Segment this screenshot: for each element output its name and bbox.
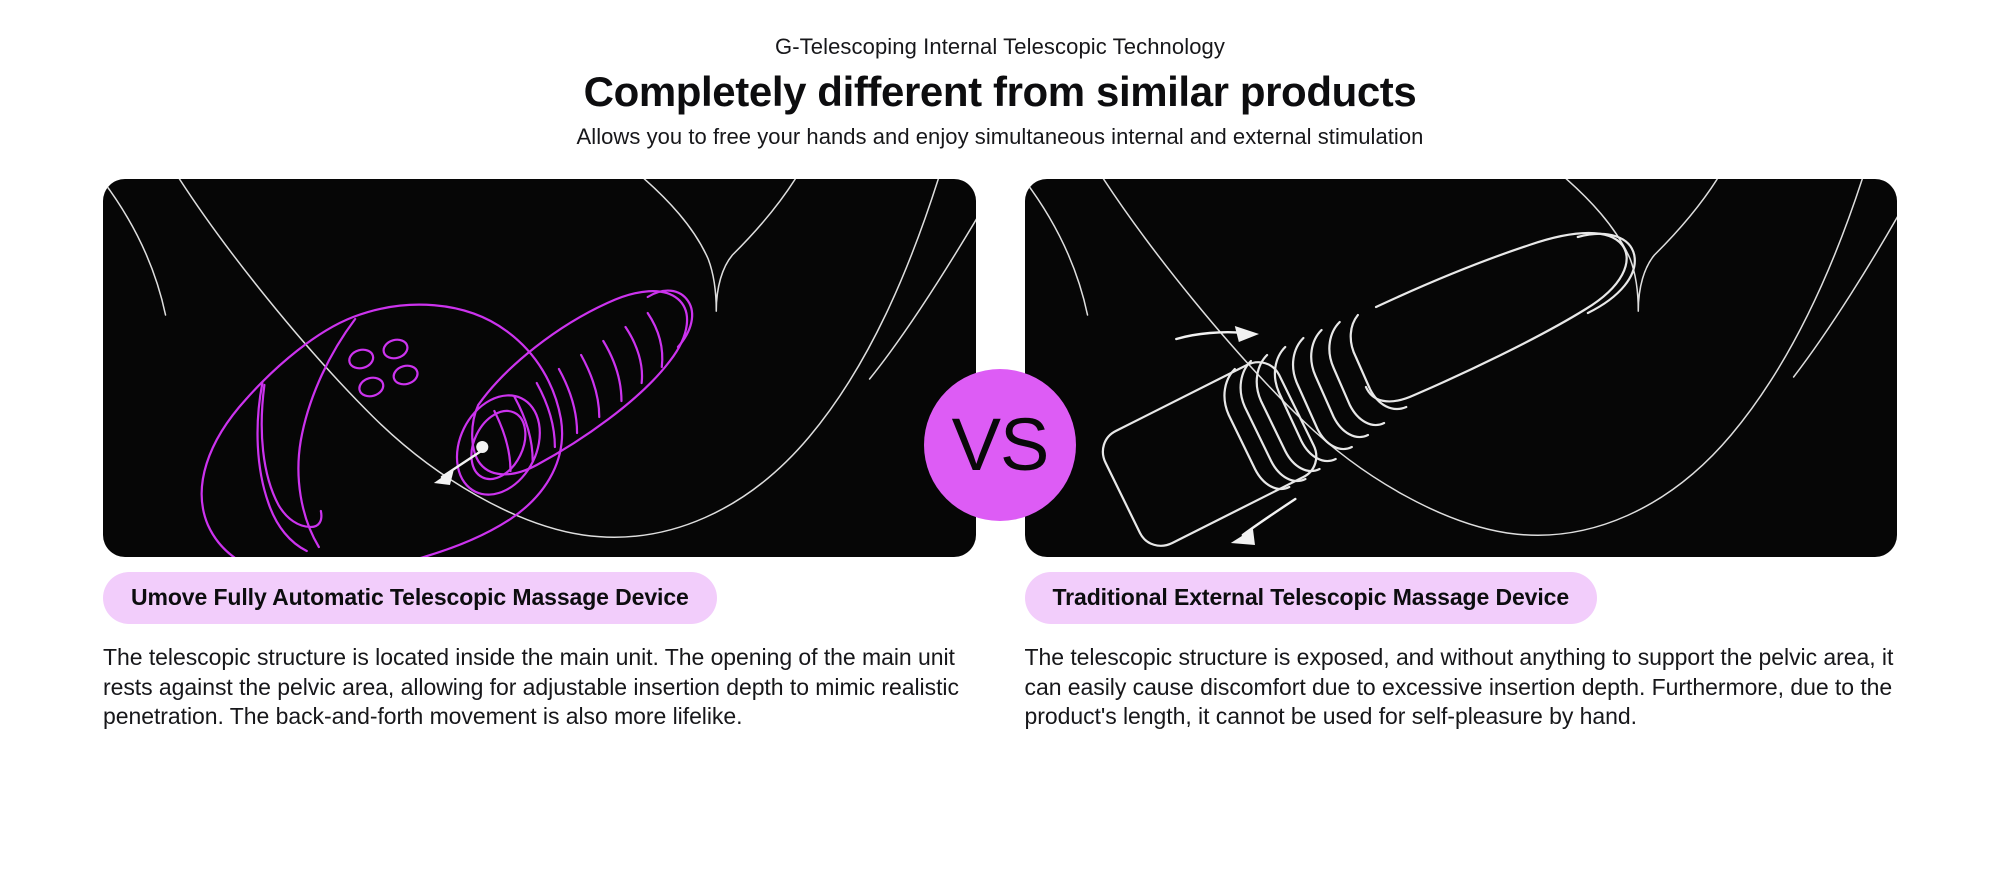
- vs-badge: VS: [924, 369, 1076, 521]
- illustration-panel-right: [1025, 179, 1898, 557]
- pill-label-left: Umove Fully Automatic Telescopic Massage…: [103, 572, 717, 624]
- comparison-row: Umove Fully Automatic Telescopic Massage…: [0, 179, 2000, 732]
- internal-telescopic-device-line-art: [103, 179, 976, 557]
- vs-badge-label: VS: [952, 408, 1049, 482]
- illustration-panel-left: [103, 179, 976, 557]
- comparison-infographic: G-Telescoping Internal Telescopic Techno…: [0, 0, 2000, 879]
- subtitle-text: Allows you to free your hands and enjoy …: [0, 122, 2000, 152]
- comparison-column-right: Traditional External Telescopic Massage …: [1025, 179, 1898, 732]
- description-left: The telescopic structure is located insi…: [103, 643, 976, 732]
- comparison-column-left: Umove Fully Automatic Telescopic Massage…: [103, 179, 976, 732]
- page-title: Completely different from similar produc…: [0, 66, 2000, 118]
- pill-label-right: Traditional External Telescopic Massage …: [1025, 572, 1598, 624]
- description-right: The telescopic structure is exposed, and…: [1025, 643, 1898, 732]
- header: G-Telescoping Internal Telescopic Techno…: [0, 0, 2000, 152]
- eyebrow-text: G-Telescoping Internal Telescopic Techno…: [0, 32, 2000, 62]
- external-telescopic-device-line-art: [1025, 179, 1898, 557]
